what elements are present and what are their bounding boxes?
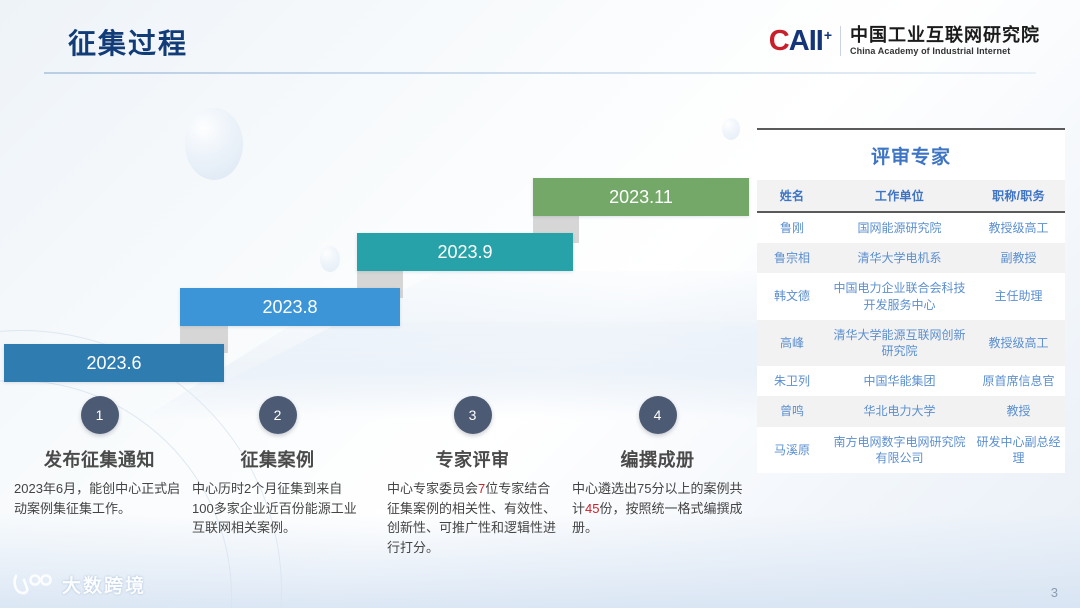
step-title: 发布征集通知	[12, 446, 187, 472]
logo-wordmark: C AII +	[769, 27, 831, 56]
dashukuajing-logo-icon	[12, 572, 54, 598]
decorative-sphere	[722, 118, 740, 140]
cell-name: 鲁刚	[757, 212, 827, 243]
column-header-title: 职称/职务	[972, 180, 1065, 212]
table-row: 高峰 清华大学能源互联网创新研究院 教授级高工	[757, 320, 1065, 366]
experts-table: 姓名 工作单位 职称/职务 鲁刚 国网能源研究院 教授级高工 鲁宗相 清华大学电…	[757, 180, 1065, 473]
logo-name-en: China Academy of Industrial Internet	[850, 46, 1040, 57]
cell-name: 韩文德	[757, 273, 827, 319]
cell-name: 朱卫列	[757, 366, 827, 396]
experts-table-caption: 评审专家	[757, 130, 1065, 180]
timeline-bar-1: 2023.6	[4, 344, 224, 382]
step-number-badge: 4	[639, 396, 677, 434]
cell-name: 高峰	[757, 320, 827, 366]
logo-letter-c: C	[769, 27, 789, 56]
table-row: 曾鸣 华北电力大学 教授	[757, 396, 1065, 426]
logo-letters-aii: AII	[789, 27, 823, 56]
cell-title: 教授	[972, 396, 1065, 426]
logo-institute-names: 中国工业互联网研究院 China Academy of Industrial I…	[850, 26, 1040, 57]
timeline-bar-2: 2023.8	[180, 288, 400, 326]
page-number: 3	[1051, 585, 1058, 600]
cell-title: 原首席信息官	[972, 366, 1065, 396]
column-header-organization: 工作单位	[827, 180, 972, 212]
cell-organization: 清华大学能源互联网创新研究院	[827, 320, 972, 366]
timeline-bar-label: 2023.9	[437, 242, 492, 263]
step-item-2: 2 征集案例 中心历时2个月征集到来自100多家企业近百份能源工业互联网相关案例…	[190, 396, 365, 538]
cell-name: 鲁宗相	[757, 243, 827, 273]
cell-title: 副教授	[972, 243, 1065, 273]
step-title: 专家评审	[385, 446, 560, 472]
decorative-sphere	[320, 246, 340, 272]
column-header-name: 姓名	[757, 180, 827, 212]
cell-name: 马溪原	[757, 427, 827, 473]
page-title: 征集过程	[68, 22, 188, 62]
table-row: 韩文德 中国电力企业联合会科技开发服务中心 主任助理	[757, 273, 1065, 319]
step-title: 编撰成册	[570, 446, 745, 472]
cell-organization: 中国华能集团	[827, 366, 972, 396]
step-description-text: 中心历时2个月征集到来自100多家企业近百份能源工业互联网相关案例。	[192, 481, 357, 535]
experts-table-body: 鲁刚 国网能源研究院 教授级高工 鲁宗相 清华大学电机系 副教授 韩文德 中国电…	[757, 212, 1065, 473]
step-description-highlight: 45	[585, 501, 599, 516]
table-row: 马溪原 南方电网数字电网研究院有限公司 研发中心副总经理	[757, 427, 1065, 473]
experts-table-panel: 评审专家 姓名 工作单位 职称/职务 鲁刚 国网能源研究院 教授级高工 鲁宗相 …	[757, 128, 1065, 473]
logo-plus-icon: +	[824, 28, 831, 42]
cell-organization: 清华大学电机系	[827, 243, 972, 273]
table-row: 鲁刚 国网能源研究院 教授级高工	[757, 212, 1065, 243]
table-row: 鲁宗相 清华大学电机系 副教授	[757, 243, 1065, 273]
cell-title: 教授级高工	[972, 320, 1065, 366]
step-description: 中心遴选出75分以上的案例共计45份，按照统一格式编撰成册。	[570, 479, 745, 538]
caii-logo: C AII + 中国工业互联网研究院 China Academy of Indu…	[769, 26, 1040, 57]
table-row: 朱卫列 中国华能集团 原首席信息官	[757, 366, 1065, 396]
step-title: 征集案例	[190, 446, 365, 472]
timeline-bar-label: 2023.11	[609, 187, 673, 208]
timeline-bar-3: 2023.9	[357, 233, 573, 271]
watermark-text: 大数跨境	[62, 571, 146, 598]
cell-name: 曾鸣	[757, 396, 827, 426]
step-description: 2023年6月，能创中心正式启动案例集征集工作。	[12, 479, 187, 518]
cell-title: 主任助理	[972, 273, 1065, 319]
logo-divider	[840, 26, 841, 56]
header-divider	[44, 72, 1036, 74]
table-header-row: 姓名 工作单位 职称/职务	[757, 180, 1065, 212]
timeline-bar-label: 2023.8	[262, 297, 317, 318]
timeline-bar-4: 2023.11	[533, 178, 749, 216]
step-item-1: 1 发布征集通知 2023年6月，能创中心正式启动案例集征集工作。	[12, 396, 187, 518]
slide-root: 征集过程 C AII + 中国工业互联网研究院 China Academy of…	[0, 0, 1080, 608]
step-description: 中心专家委员会7位专家结合征集案例的相关性、有效性、创新性、可推广性和逻辑性进行…	[385, 479, 560, 557]
cell-organization: 中国电力企业联合会科技开发服务中心	[827, 273, 972, 319]
cell-title: 研发中心副总经理	[972, 427, 1065, 473]
step-description-text: 中心专家委员会	[387, 481, 478, 496]
step-number-badge: 1	[81, 396, 119, 434]
cell-organization: 南方电网数字电网研究院有限公司	[827, 427, 972, 473]
logo-name-cn: 中国工业互联网研究院	[850, 26, 1040, 46]
timeline-bar-label: 2023.6	[86, 353, 141, 374]
step-number-badge: 3	[454, 396, 492, 434]
step-item-4: 4 编撰成册 中心遴选出75分以上的案例共计45份，按照统一格式编撰成册。	[570, 396, 745, 538]
step-description: 中心历时2个月征集到来自100多家企业近百份能源工业互联网相关案例。	[190, 479, 365, 538]
step-item-3: 3 专家评审 中心专家委员会7位专家结合征集案例的相关性、有效性、创新性、可推广…	[385, 396, 560, 557]
step-number-badge: 2	[259, 396, 297, 434]
watermark: 大数跨境	[12, 571, 146, 598]
cell-organization: 国网能源研究院	[827, 212, 972, 243]
decorative-sphere	[185, 108, 243, 180]
cell-title: 教授级高工	[972, 212, 1065, 243]
cell-organization: 华北电力大学	[827, 396, 972, 426]
step-description-text: 2023年6月，能创中心正式启动案例集征集工作。	[14, 481, 180, 516]
